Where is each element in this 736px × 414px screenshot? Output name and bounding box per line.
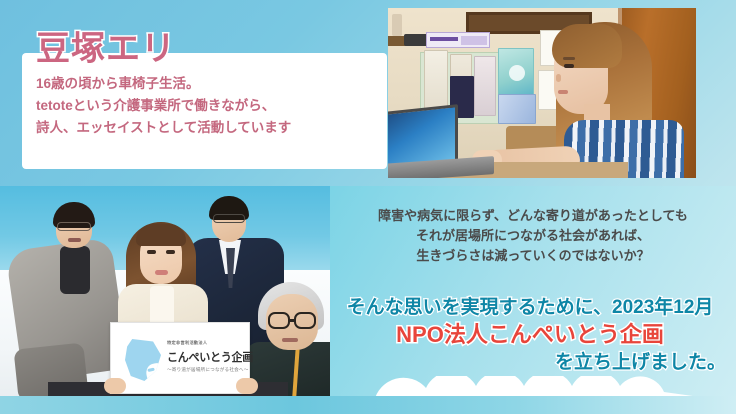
photo-woman-at-laptop	[388, 8, 696, 178]
top-section: 豆塚エリ 16歳の頃から車椅子生活。 tetoteという介護事業所で働きながら、…	[0, 0, 736, 186]
sign-title: こんぺいとう企画	[167, 349, 248, 365]
photo-book	[474, 56, 496, 116]
photo-member-d-mouth	[282, 338, 298, 342]
photo-member-b-bangs	[136, 224, 186, 246]
slide-canvas: 豆塚エリ 16歳の頃から車椅子生活。 tetoteという介護事業所で働きながら、…	[0, 0, 736, 414]
photo-member-b-eye	[147, 250, 156, 254]
page-title: 豆塚エリ	[36, 21, 176, 70]
sign-subtitle: 特定非営利活動法人	[167, 340, 247, 346]
cta-block: そんな思いを実現するために、2023年12月 NPO法人こんぺいとう企画 を立ち…	[330, 296, 730, 375]
quote-line-2: それが居場所につながる社会があれば、	[338, 226, 728, 246]
bottom-accent-strip	[0, 396, 736, 414]
photo-member-d-glasses	[268, 312, 290, 329]
cta-line-1: そんな思いを実現するために、2023年12月	[330, 296, 730, 320]
photo-book	[498, 94, 536, 124]
photo-person-bangs	[552, 24, 622, 68]
photo-person-lips	[558, 90, 568, 94]
sign-tagline: ～寄り道が居場所につながる社会へ～	[167, 367, 251, 373]
profile-line-2: tetoteという介護事業所で働きながら、	[36, 95, 381, 117]
photo-member-a-mouth	[68, 238, 81, 242]
quote-block: 障害や病気に限らず、どんな寄り道があったとしても それが居場所につながる社会があ…	[338, 206, 728, 265]
cta-line-3: を立ち上げました。	[330, 351, 730, 376]
photo-member-a-glasses	[57, 222, 91, 231]
profile-line-3: 詩人、エッセイストとして活動しています	[36, 117, 381, 139]
quote-line-3: 生きづらさは減っていくのではないか？	[338, 246, 728, 266]
photo-member-d-glasses	[294, 312, 316, 329]
photo-member-a-shirt	[60, 246, 90, 294]
photo-member-d-glasses-bridge	[290, 319, 296, 322]
photo-object-bottle	[392, 14, 402, 36]
quote-line-1: 障害や病気に限らず、どんな寄り道があったとしても	[338, 206, 728, 226]
photo-book	[498, 48, 534, 96]
konpeito-logo-icon	[125, 339, 161, 381]
profile-line-1: 16歳の頃から車椅子生活。	[36, 73, 381, 95]
photo-member-b-eye	[166, 250, 175, 254]
photo-person-nose	[556, 74, 561, 82]
profile-description: 16歳の頃から車椅子生活。 tetoteという介護事業所で働きながら、 詩人、エ…	[36, 73, 381, 139]
photo-member-b-lips	[155, 270, 168, 275]
logo-bird-shape	[145, 361, 172, 391]
photo-hand-left	[104, 378, 126, 394]
organization-sign-board: 特定非営利活動法人 こんぺいとう企画 ～寄り道が居場所につながる社会へ～	[110, 322, 250, 394]
photo-person-eye	[564, 64, 574, 68]
photo-hand-right	[236, 378, 258, 394]
photo-member-c-glasses	[213, 214, 245, 223]
photo-poster	[426, 32, 490, 48]
photo-person-eyebrow	[563, 57, 575, 60]
cta-line-2-org-name: NPO法人こんぺいとう企画	[330, 320, 730, 351]
